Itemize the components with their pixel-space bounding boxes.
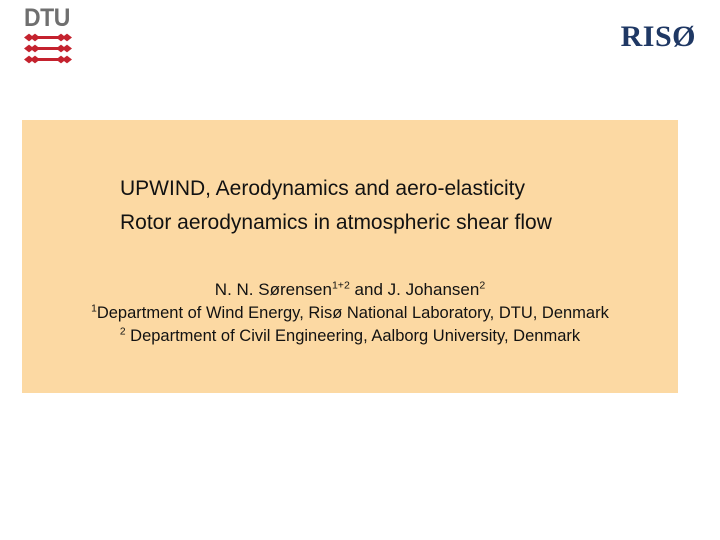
riso-wordmark: RISØ — [621, 22, 696, 52]
title-line-1: UPWIND, Aerodynamics and aero-elasticity — [120, 172, 660, 206]
affiliation-line-2: 2 Department of Civil Engineering, Aalbo… — [22, 325, 678, 348]
dtu-bar-icon-3 — [24, 55, 72, 64]
dtu-bars-icon — [24, 33, 72, 64]
dtu-bar-icon-1 — [24, 33, 72, 42]
slide-footer-area — [0, 393, 720, 540]
title-line-2: Rotor aerodynamics in atmospheric shear … — [120, 206, 660, 240]
riso-logo: RISØ — [621, 22, 696, 52]
author-block: N. N. Sørensen1+2 and J. Johansen2 1Depa… — [22, 278, 678, 348]
author-conjunction: and — [350, 280, 388, 299]
dtu-wordmark: DTU — [24, 6, 72, 30]
title-panel: UPWIND, Aerodynamics and aero-elasticity… — [22, 120, 678, 393]
affiliation-text-1: Department of Wind Energy, Risø National… — [97, 304, 609, 322]
author-superscript-2: 2 — [479, 279, 485, 291]
slide-header: DTU — [0, 0, 720, 118]
author-name-1: N. N. Sørensen — [215, 280, 332, 299]
slide: DTU — [0, 0, 720, 540]
dtu-logo: DTU — [24, 6, 76, 60]
author-superscript-1: 1+2 — [332, 279, 350, 291]
affiliation-line-1: 1Department of Wind Energy, Risø Nationa… — [22, 302, 678, 325]
author-name-2: J. Johansen — [388, 280, 480, 299]
affiliation-text-2: Department of Civil Engineering, Aalborg… — [126, 327, 581, 345]
title-block: UPWIND, Aerodynamics and aero-elasticity… — [120, 172, 660, 240]
dtu-bar-icon-2 — [24, 44, 72, 53]
author-line: N. N. Sørensen1+2 and J. Johansen2 — [22, 278, 678, 302]
